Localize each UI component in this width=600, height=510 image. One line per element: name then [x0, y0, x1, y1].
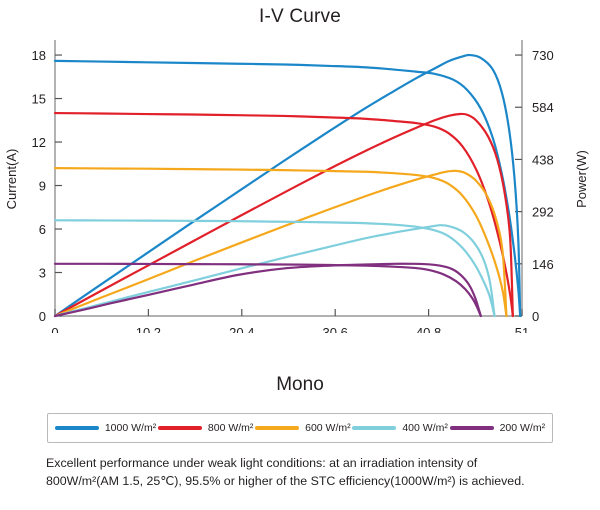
caption-line-1: Excellent performance under weak light c…: [46, 455, 558, 473]
x-tick-label: 51: [515, 325, 529, 333]
page-title: I-V Curve: [0, 6, 600, 28]
x-tick-label: 40.8: [416, 325, 441, 333]
x-tick-label: 10.2: [136, 325, 161, 333]
y2-tick-label: 730: [532, 48, 554, 63]
legend-swatch-icon: [55, 426, 99, 430]
legend-swatch-icon: [450, 426, 494, 430]
x-tick-label: 20.4: [229, 325, 254, 333]
y-tick-label: 6: [39, 222, 46, 237]
y2-tick-label: 0: [532, 309, 539, 324]
iv-pv-plot: 03691215180146292438584730010.220.430.64…: [0, 28, 600, 333]
legend-swatch-icon: [255, 426, 299, 430]
legend-item-4[interactable]: 200 W/m²: [450, 422, 546, 434]
legend-label: 600 W/m²: [305, 422, 351, 434]
x-tick-label: 0: [51, 325, 58, 333]
legend-label: 400 W/m²: [402, 422, 448, 434]
iv-curve-figure: I-V Curve 03691215180146292438584730010.…: [0, 0, 600, 510]
y2-tick-label: 584: [532, 100, 554, 115]
pv-curve-1: [55, 114, 513, 316]
chart-subtitle: Mono: [0, 374, 600, 396]
y-tick-label: 15: [32, 92, 46, 107]
legend-swatch-icon: [158, 426, 202, 430]
legend-label: 1000 W/m²: [105, 422, 156, 434]
y2-tick-label: 146: [532, 257, 554, 272]
plot-area: 03691215180146292438584730010.220.430.64…: [0, 28, 600, 333]
y-tick-label: 18: [32, 48, 46, 63]
legend-item-3[interactable]: 400 W/m²: [352, 422, 448, 434]
y-tick-label: 3: [39, 266, 46, 281]
y2-tick-label: 292: [532, 205, 554, 220]
iv-curve-2: [55, 168, 506, 316]
y-tick-label: 0: [39, 309, 46, 324]
y-tick-label: 9: [39, 179, 46, 194]
legend-swatch-icon: [352, 426, 396, 430]
caption-line-2: 800W/m²(AM 1.5, 25℃), 95.5% or higher of…: [46, 473, 558, 491]
y-axis-label: Current(A): [4, 149, 19, 210]
y-tick-label: 12: [32, 135, 46, 150]
iv-curve-1: [55, 113, 513, 316]
legend-label: 200 W/m²: [500, 422, 546, 434]
legend-item-2[interactable]: 600 W/m²: [255, 422, 351, 434]
legend-item-0[interactable]: 1000 W/m²: [55, 422, 156, 434]
legend-item-1[interactable]: 800 W/m²: [158, 422, 254, 434]
legend-label: 800 W/m²: [208, 422, 254, 434]
legend: 1000 W/m²800 W/m²600 W/m²400 W/m²200 W/m…: [47, 413, 553, 443]
x-tick-label: 30.6: [323, 325, 348, 333]
y2-tick-label: 438: [532, 152, 554, 167]
caption: Excellent performance under weak light c…: [46, 455, 558, 491]
pv-curve-2: [55, 171, 506, 316]
y2-axis-label: Power(W): [574, 150, 589, 208]
